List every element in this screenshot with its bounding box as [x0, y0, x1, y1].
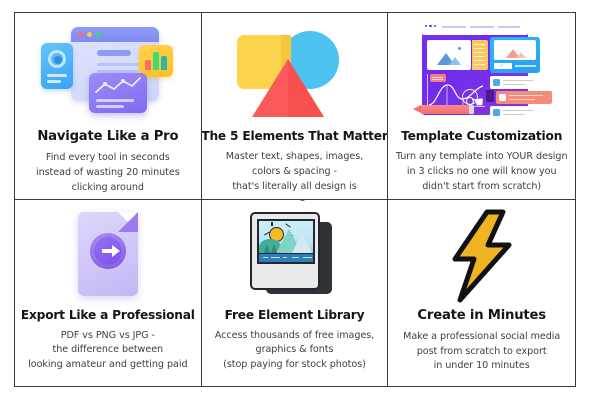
line-chart-card-shape	[89, 73, 147, 113]
card-body-line: (stop paying for stock photos)	[215, 358, 374, 373]
card-create-in-minutes[interactable]: Create in Minutes Make a professional so…	[388, 200, 575, 387]
card-body-line: in under 10 minutes	[403, 359, 560, 374]
card-body-line: didn't start from scratch)	[396, 180, 568, 195]
photo-stack-illustration	[210, 206, 380, 306]
card-body-line: Make a professional social media	[403, 330, 560, 345]
card-body: Access thousands of free images, graphic…	[215, 329, 374, 374]
lightning-bolt-svg	[443, 209, 521, 303]
feature-grid: Navigate Like a Pro Find every tool in s…	[14, 12, 576, 387]
window-dot-red-icon	[78, 32, 83, 37]
card-body-line: PDF vs PNG vs JPG -	[28, 329, 187, 344]
card-body-line: instead of wasting 20 minutes	[36, 166, 180, 181]
triangle-overlap-shape	[288, 59, 324, 117]
card-export-like-a-professional[interactable]: Export Like a Professional PDF vs PNG vs…	[15, 200, 202, 387]
card-body-line: looking amateur and getting paid	[28, 358, 187, 373]
card-body: Turn any template into YOUR design in 3 …	[396, 150, 568, 195]
card-body: Master text, shapes, images, colors & sp…	[226, 150, 363, 195]
card-navigate-like-a-pro[interactable]: Navigate Like a Pro Find every tool in s…	[15, 13, 202, 200]
card-body-line: the difference between	[28, 343, 187, 358]
bar-chart-bar	[161, 56, 167, 70]
star-icon	[458, 47, 461, 50]
sidebar-yellow-shape	[472, 40, 488, 70]
template-editor-illustration: ✓	[396, 19, 567, 127]
profile-card-shape	[41, 43, 73, 89]
file-export-illustration	[23, 206, 193, 306]
avatar-icon	[493, 79, 500, 86]
card-title: Template Customization	[401, 129, 562, 143]
card-title: Export Like a Professional	[21, 308, 195, 322]
card-title: Create in Minutes	[417, 308, 545, 323]
export-badge-inner	[94, 237, 122, 265]
infographic-page: Navigate Like a Pro Find every tool in s…	[0, 0, 600, 400]
stray-artifact-text: ning	[202, 200, 388, 202]
card-template-customization[interactable]: ✓	[388, 13, 575, 200]
card-body-line: graphics & fonts	[215, 343, 374, 358]
pencil-tip-icon	[413, 105, 421, 113]
toolbar-tab-bar	[442, 26, 466, 28]
browser-dashboard-illustration	[23, 19, 193, 127]
list-row-highlight-shape	[496, 91, 552, 104]
toolbar-tab-bar	[498, 26, 520, 28]
card-title: The 5 Elements That Matter	[202, 129, 388, 143]
avatar-ring-icon	[48, 50, 66, 68]
card-body: Make a professional social media post fr…	[403, 330, 560, 375]
accent-block-shape	[486, 90, 494, 102]
card-free-element-library[interactable]: ning	[202, 200, 389, 387]
toolbar-dot-icon	[429, 25, 432, 28]
avatar-icon	[499, 94, 506, 101]
browser-titlebar-shape	[71, 27, 159, 42]
list-row-shape	[490, 106, 540, 119]
card-title: Navigate Like a Pro	[37, 129, 178, 144]
card-body-line: in 3 clicks no one will know you	[396, 165, 568, 180]
water-band-shape	[259, 253, 313, 262]
window-dot-green-icon	[96, 32, 101, 37]
content-line-bar	[97, 63, 143, 66]
card-body: PDF vs PNG vs JPG - the difference betwe…	[28, 329, 187, 374]
mountain-icon	[516, 52, 526, 58]
tooltip-shape	[430, 74, 446, 82]
card-body-line: Turn any template into YOUR design	[396, 150, 568, 165]
card-body: Find every tool in seconds instead of wa…	[36, 151, 180, 196]
bar-chart-bar	[145, 60, 151, 70]
card-the-5-elements-that-matter[interactable]: The 5 Elements That Matter Master text, …	[202, 13, 389, 200]
landscape-photo-shape	[257, 219, 315, 264]
shapes-illustration	[210, 19, 380, 127]
card-body-line: clicking around	[36, 181, 180, 196]
preview-image-shape	[494, 40, 536, 60]
card-body-line: post from scratch to export	[403, 345, 560, 360]
card-body-line: colors & spacing -	[226, 165, 363, 180]
card-title: Free Element Library	[225, 308, 365, 322]
line-chart-caption-bar	[96, 105, 124, 108]
lightning-bolt-illustration	[396, 206, 567, 306]
card-body-line: Access thousands of free images,	[215, 329, 374, 344]
mountain-peak-shape	[291, 233, 313, 255]
canvas-image-shape	[427, 40, 471, 70]
avatar-icon	[493, 109, 500, 116]
card-body-line: that's literally all design is	[226, 180, 363, 195]
window-dot-yellow-icon	[87, 32, 92, 37]
photo-stack-front-card	[250, 212, 320, 290]
line-chart-svg	[89, 73, 147, 99]
bar-chart-bar	[153, 52, 159, 70]
card-body-line: Master text, shapes, images,	[226, 150, 363, 165]
preview-line-bar	[515, 65, 536, 67]
profile-line-bar	[47, 74, 67, 77]
curve-graph-shape: ☚	[427, 74, 485, 107]
page-fold-accent-icon	[118, 212, 138, 232]
list-row-shape	[490, 76, 540, 89]
export-badge-circle	[90, 233, 126, 269]
profile-line-bar	[47, 80, 61, 83]
content-heading-bar	[97, 50, 131, 56]
preview-card-shape: ✓	[490, 37, 540, 73]
check-icon: ✓	[500, 64, 504, 69]
pencil-icon	[421, 105, 469, 114]
toolbar-tab-bar	[470, 26, 494, 28]
line-chart-caption-bar	[96, 99, 134, 102]
mountain-icon	[449, 57, 461, 65]
pencil-eraser-icon	[469, 105, 474, 114]
card-body-line: Find every tool in seconds	[36, 151, 180, 166]
arrow-head-icon	[112, 245, 120, 257]
